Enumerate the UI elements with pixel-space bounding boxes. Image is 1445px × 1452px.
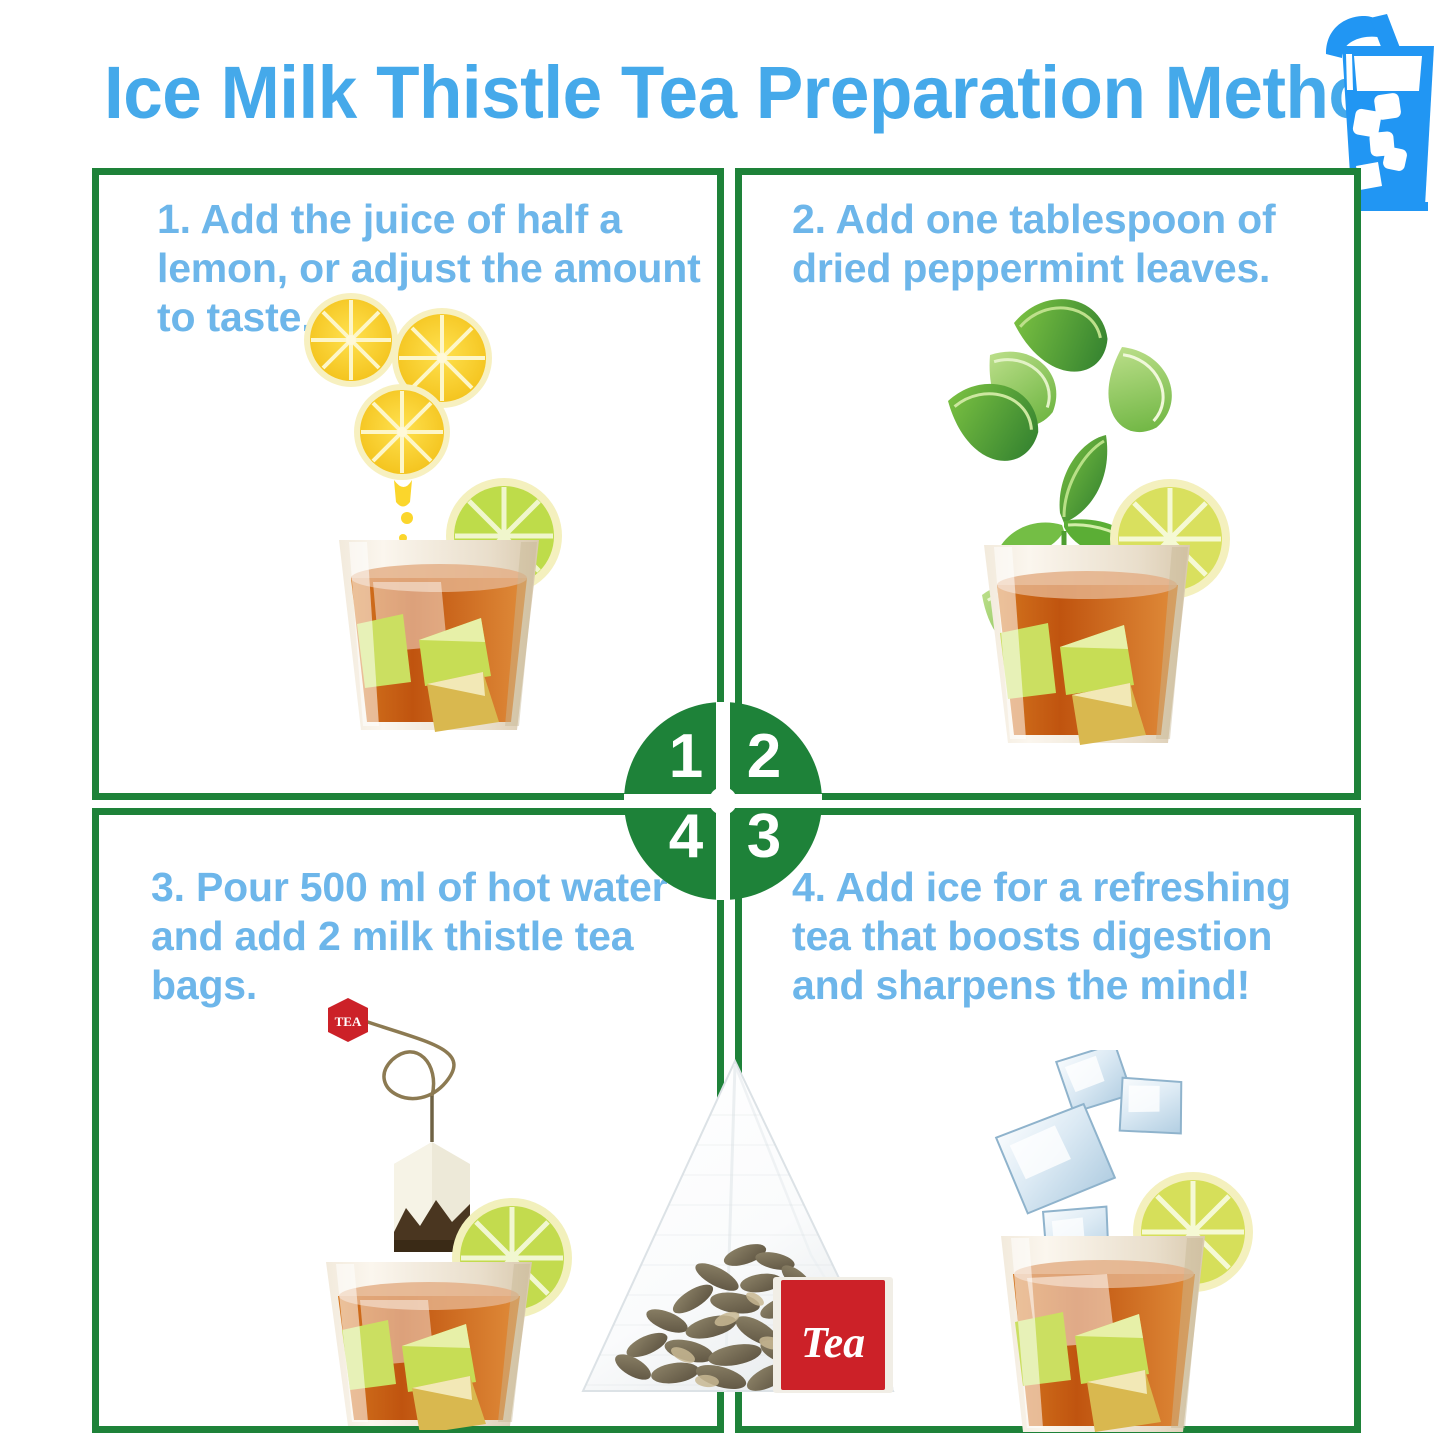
ice-cubes-falling-into-iced-tea-glass-art [967, 1050, 1287, 1440]
center-step-wheel: 1 2 4 3 [624, 702, 822, 900]
step-panel-2: 2. Add one tablespoon of dried peppermin… [735, 168, 1361, 800]
pyramid-teabag-art: Tea [575, 1055, 915, 1447]
step-1-text: 1. Add the juice of half a lemon, or adj… [157, 195, 713, 342]
teabag-tag-label: Tea [801, 1318, 865, 1367]
lemon-slices-pouring-into-iced-tea-glass-art [299, 290, 579, 740]
page-title: Ice Milk Thistle Tea Preparation Method [104, 48, 1304, 138]
teabag-tag-label-small: TEA [335, 1014, 362, 1029]
wheel-number-2: 2 [736, 726, 792, 788]
step-2-text: 2. Add one tablespoon of dried peppermin… [792, 195, 1352, 293]
wheel-number-3: 3 [736, 806, 792, 868]
step-4-text: 4. Add ice for a refreshing tea that boo… [792, 863, 1352, 1010]
wheel-number-4: 4 [658, 806, 714, 868]
mint-leaves-falling-into-iced-tea-glass-art [942, 295, 1262, 755]
tea-bag-dipping-into-iced-tea-glass-art: TEA [294, 990, 604, 1430]
wheel-number-1: 1 [658, 726, 714, 788]
